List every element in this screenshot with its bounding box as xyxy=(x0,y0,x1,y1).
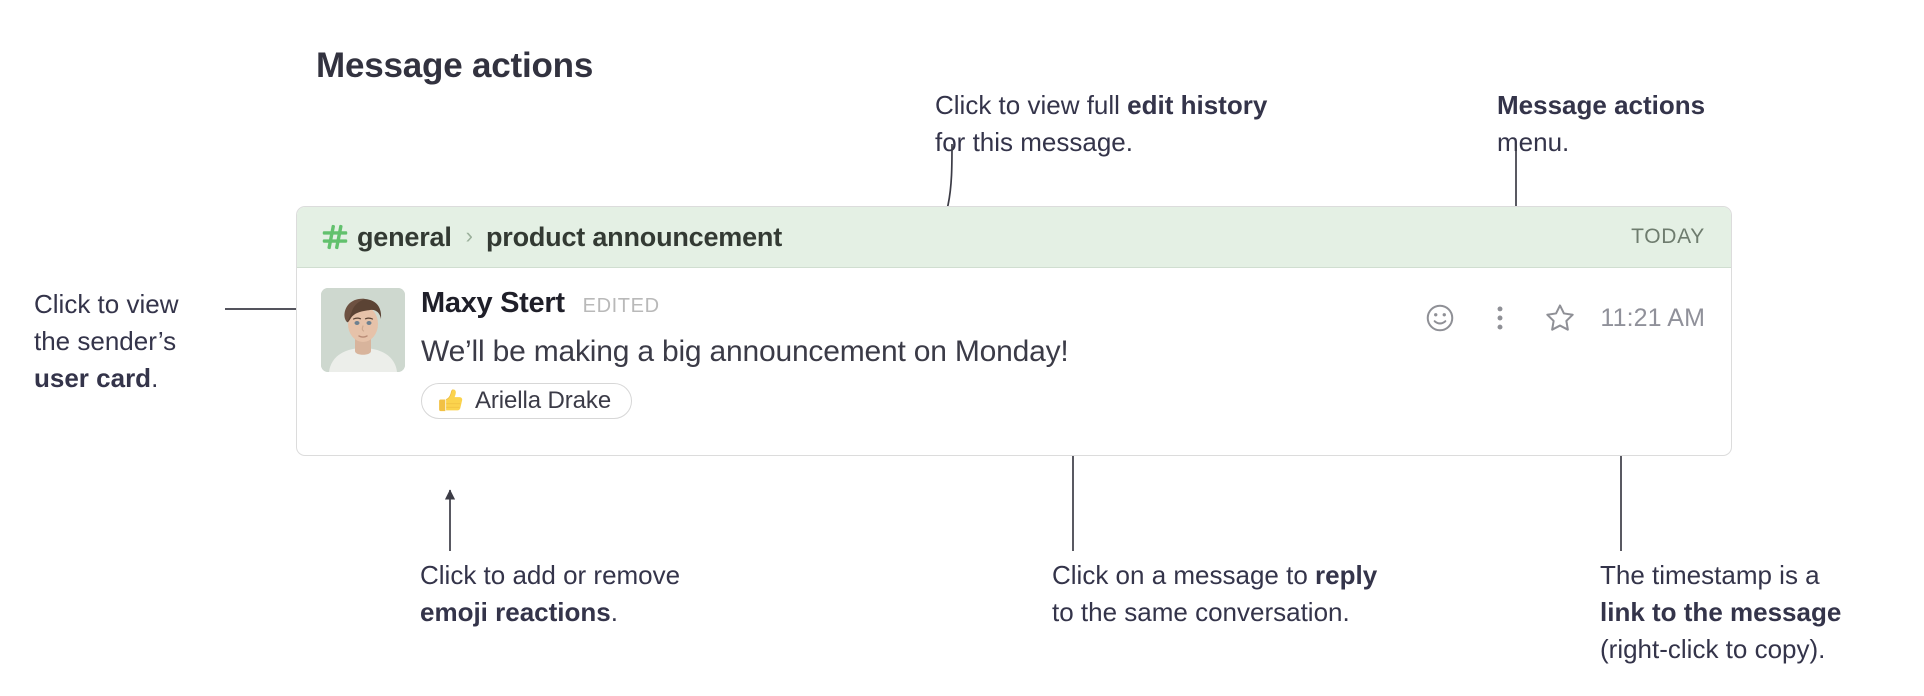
annotation-message-menu-post: menu. xyxy=(1497,127,1569,157)
avatar-image xyxy=(321,288,405,372)
annotation-edit-history-bold: edit history xyxy=(1127,90,1267,120)
hash-icon xyxy=(321,223,349,251)
stream-name[interactable]: general xyxy=(357,222,452,253)
kebab-menu-icon[interactable] xyxy=(1484,302,1516,334)
annotation-message-menu: Message actions menu. xyxy=(1497,87,1797,161)
message-card: general › product announcement TODAY xyxy=(296,206,1732,456)
annotation-timestamp-link: The timestamp is a link to the message (… xyxy=(1600,557,1920,668)
annotation-reply-bold: reply xyxy=(1315,560,1377,590)
annotation-emoji-post: . xyxy=(611,597,618,627)
annotation-timestamp-bold: link to the message xyxy=(1600,597,1841,627)
annotation-edit-history-pre: Click to view full xyxy=(935,90,1127,120)
topic-name[interactable]: product announcement xyxy=(486,222,782,253)
thumbs-up-icon xyxy=(436,387,464,415)
annotation-timestamp-post: (right-click to copy). xyxy=(1600,634,1825,664)
message-body[interactable]: We’ll be making a big announcement on Mo… xyxy=(421,333,1705,371)
annotation-user-card-line2: the sender’s xyxy=(34,326,176,356)
annotation-user-card-trail: . xyxy=(151,363,158,393)
annotation-reply-post: to the same conversation. xyxy=(1052,597,1350,627)
annotation-user-card-line1: Click to view xyxy=(34,289,178,319)
annotation-emoji-reactions: Click to add or remove emoji reactions. xyxy=(420,557,780,631)
edited-badge[interactable]: EDITED xyxy=(583,295,660,318)
message-controls: 11:21 AM xyxy=(1424,302,1705,334)
message-timestamp[interactable]: 11:21 AM xyxy=(1600,304,1705,333)
annotation-edit-history: Click to view full edit history for this… xyxy=(935,87,1355,161)
recipient-date[interactable]: TODAY xyxy=(1631,225,1705,249)
reaction-pill[interactable]: Ariella Drake xyxy=(421,383,632,419)
emoji-picker-icon[interactable] xyxy=(1424,302,1456,334)
reactions-list: Ariella Drake xyxy=(421,383,1705,419)
annotation-emoji-bold: emoji reactions xyxy=(420,597,611,627)
chevron-right-icon: › xyxy=(466,225,473,247)
star-icon[interactable] xyxy=(1544,302,1576,334)
annotation-message-menu-bold: Message actions xyxy=(1497,90,1705,120)
sender-name[interactable]: Maxy Stert xyxy=(421,287,565,320)
message-row[interactable]: Maxy Stert EDITED We’ll be making a big … xyxy=(297,268,1731,456)
recipient-bar[interactable]: general › product announcement TODAY xyxy=(297,207,1731,268)
annotation-reply: Click on a message to reply to the same … xyxy=(1052,557,1472,631)
avatar[interactable] xyxy=(321,288,405,372)
annotation-user-card-bold: user card xyxy=(34,363,151,393)
annotation-timestamp-pre: The timestamp is a xyxy=(1600,560,1820,590)
page-title: Message actions xyxy=(316,46,593,86)
annotation-user-card: Click to viewthe sender’suser card. xyxy=(34,286,264,397)
annotation-emoji-pre: Click to add or remove xyxy=(420,560,680,590)
annotation-edit-history-post: for this message. xyxy=(935,127,1133,157)
annotation-reply-pre: Click on a message to xyxy=(1052,560,1315,590)
reaction-label: Ariella Drake xyxy=(475,387,611,415)
